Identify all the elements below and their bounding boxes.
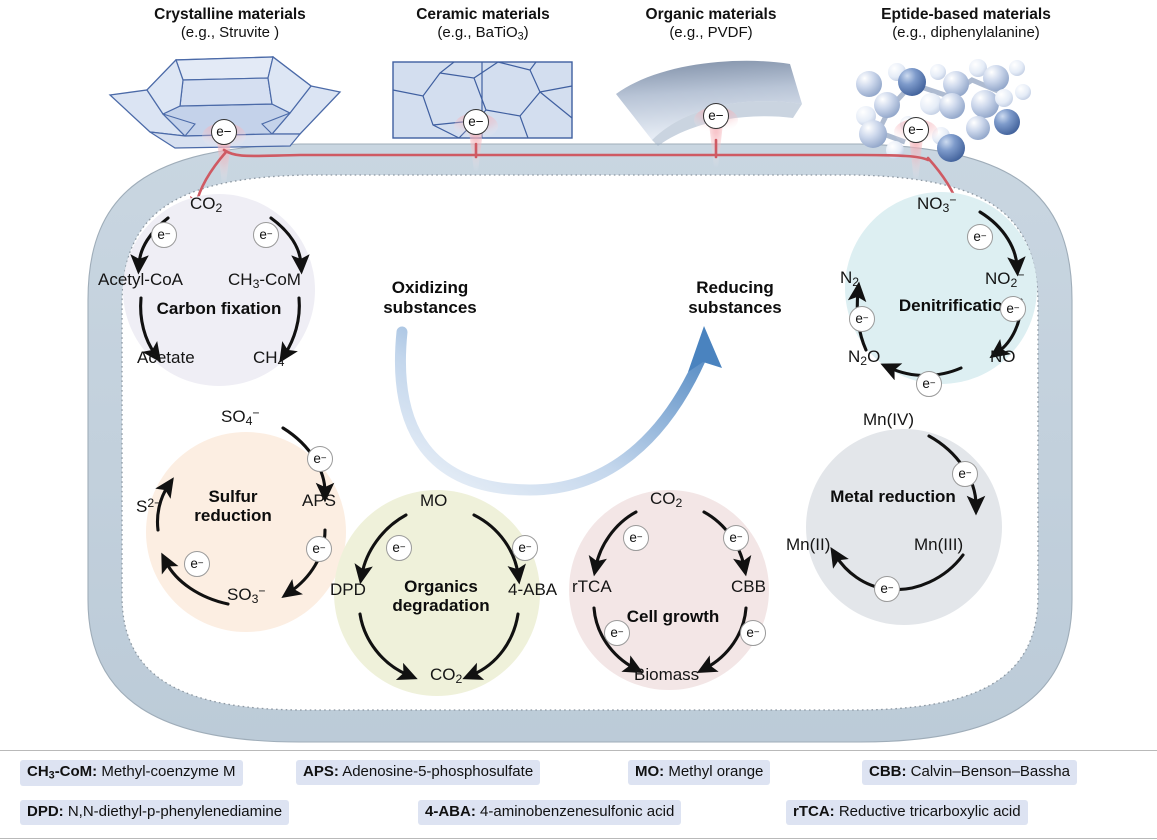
figure-canvas: Crystalline materials (e.g., Struvite ) … xyxy=(0,0,1157,840)
node-biomass: Biomass xyxy=(634,665,699,685)
cycle-title-cell-growth: Cell growth xyxy=(611,607,735,626)
node-aps: APS xyxy=(302,491,336,511)
node-mn-ii: Mn(II) xyxy=(786,535,830,555)
node-no2: NO2− xyxy=(985,268,1024,290)
cycle-title-sulfur-reduction: Sulfur reduction xyxy=(168,487,298,525)
electron-badge: e− xyxy=(1000,296,1026,322)
node-co2: CO2 xyxy=(430,665,462,686)
legend-item-cbb: CBB: Calvin–Benson–Bassha xyxy=(862,760,1077,785)
node-n2o: N2O xyxy=(848,347,880,368)
node-co2: CO2 xyxy=(190,194,222,215)
legend-row-1: CH3-CoM: Methyl-coenzyme M APS: Adenosin… xyxy=(0,760,1157,794)
label-reducing-substances: Reducing substances xyxy=(650,278,820,319)
legend-item-mo: MO: Methyl orange xyxy=(628,760,770,785)
material-title: Ceramic materials xyxy=(372,6,594,24)
material-example: (e.g., BaTiO3) xyxy=(372,24,594,43)
node-so4: SO4− xyxy=(221,406,260,428)
node-s2: S2− xyxy=(136,496,161,517)
node-acetyl-coa: Acetyl-CoA xyxy=(98,270,183,290)
material-title: Organic materials xyxy=(600,6,822,24)
electron-badge: e− xyxy=(874,576,900,602)
label-oxidizing-substances: Oxidizing substances xyxy=(345,278,515,319)
cycle-title-organics-degradation: Organics degradation xyxy=(379,577,503,615)
legend-item-dpd: DPD: N,N-diethyl-p-phenylenediamine xyxy=(20,800,289,825)
node-rtca: rTCA xyxy=(572,577,612,597)
cycle-title-metal-reduction: Metal reduction xyxy=(813,487,973,506)
cycle-title-carbon-fixation: Carbon fixation xyxy=(139,299,299,318)
electron-badge: e− xyxy=(623,525,649,551)
electron-badge: e− xyxy=(952,461,978,487)
node-mo: MO xyxy=(420,491,447,511)
material-title: Crystalline materials xyxy=(110,6,350,24)
electron-badge: e− xyxy=(916,371,942,397)
electron-badge: e− xyxy=(151,222,177,248)
electron-badge: e− xyxy=(512,535,538,561)
electron-badge: e− xyxy=(386,535,412,561)
node-mn-iv: Mn(IV) xyxy=(863,410,914,430)
electron-badge: e− xyxy=(740,620,766,646)
legend-divider-bottom xyxy=(0,838,1157,839)
legend-divider-top xyxy=(0,750,1157,751)
polymer-film-icon xyxy=(616,61,802,146)
electron-badge: e− xyxy=(184,551,210,577)
node-mn-iii: Mn(III) xyxy=(914,535,963,555)
legend-item-aps: APS: Adenosine-5-phosphosulfate xyxy=(296,760,540,785)
material-label-ceramic: Ceramic materials (e.g., BaTiO3) xyxy=(372,6,594,44)
material-example: (e.g., diphenylalanine) xyxy=(832,24,1100,42)
electron-badge: e− xyxy=(307,446,333,472)
node-so3: SO3− xyxy=(227,584,266,606)
node-co2: CO2 xyxy=(650,489,682,510)
material-label-crystalline: Crystalline materials (e.g., Struvite ) xyxy=(110,6,350,42)
electron-badge: e− xyxy=(253,222,279,248)
electron-badge-organic: e− xyxy=(703,103,729,129)
legend-item-ch3-com: CH3-CoM: Methyl-coenzyme M xyxy=(20,760,243,786)
electron-badge: e− xyxy=(306,536,332,562)
legend-item-rtca: rTCA: Reductive tricarboxylic acid xyxy=(786,800,1028,825)
legend-item-4-aba: 4-ABA: 4-aminobenzenesulfonic acid xyxy=(418,800,681,825)
electron-badge: e− xyxy=(723,525,749,551)
material-label-organic: Organic materials (e.g., PVDF) xyxy=(600,6,822,42)
electron-badge: e− xyxy=(967,224,993,250)
node-4-aba: 4-ABA xyxy=(508,580,557,600)
node-dpd: DPD xyxy=(330,580,366,600)
node-ch3-com: CH3-CoM xyxy=(228,270,301,291)
node-n2: N2 xyxy=(840,268,859,289)
node-no: NO xyxy=(990,347,1016,367)
electron-badge-crystalline: e− xyxy=(211,119,237,145)
node-cbb: CBB xyxy=(731,577,766,597)
node-ch4: CH4 xyxy=(253,348,284,369)
material-example: (e.g., Struvite ) xyxy=(110,24,350,42)
electron-badge-ceramic: e− xyxy=(463,109,489,135)
material-example: (e.g., PVDF) xyxy=(600,24,822,42)
electron-badge-peptide: e− xyxy=(903,117,929,143)
electron-badge: e− xyxy=(849,306,875,332)
node-no3: NO3− xyxy=(917,193,956,215)
node-acetate: Acetate xyxy=(137,348,195,368)
material-title: Eptide-based materials xyxy=(832,6,1100,24)
legend-row-2: DPD: N,N-diethyl-p-phenylenediamine 4-AB… xyxy=(0,800,1157,834)
electron-badge: e− xyxy=(604,620,630,646)
material-label-peptide: Eptide-based materials (e.g., diphenylal… xyxy=(832,6,1100,42)
diagram-artwork xyxy=(0,0,1157,840)
